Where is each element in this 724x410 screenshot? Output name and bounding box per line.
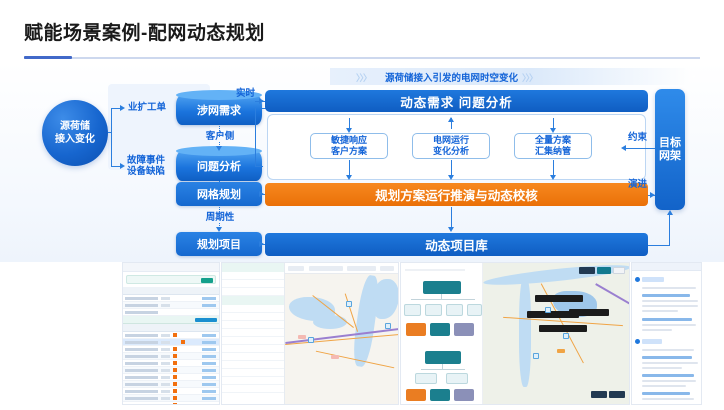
- connector-constraint-stub: [651, 148, 655, 149]
- connector-bottom-to-target-h: [648, 245, 670, 246]
- table-row: [123, 367, 219, 374]
- table-row: [123, 309, 219, 316]
- page-title: 赋能场景案例-配网动态规划: [24, 18, 265, 45]
- banner-chevrons-right: 〉〉〉: [522, 71, 537, 84]
- arrow-down-box3: [550, 128, 556, 133]
- arrow-project-to-bottom: [259, 241, 264, 247]
- source-circle-line1: 源荷储: [60, 120, 90, 133]
- arrow-down-customer: [216, 146, 222, 151]
- planning-table-screenshot[interactable]: [122, 262, 220, 405]
- table-row: [123, 295, 219, 302]
- grid-map-screenshot[interactable]: [221, 262, 399, 405]
- arrow-evolution-right: [650, 192, 655, 198]
- table-row: [123, 339, 219, 346]
- arrow-to-header-bar: [259, 98, 264, 104]
- box-grid-operation[interactable]: 电网运行 变化分析: [412, 133, 490, 159]
- arrow-orange-to-bottom: [448, 227, 454, 232]
- arrow-bottom-to-target: [667, 210, 673, 215]
- table-row: [123, 402, 219, 405]
- label-periodic: 周期性: [200, 212, 240, 223]
- arrow-down-periodic: [216, 227, 222, 232]
- thumb2-map-toolbar: [285, 263, 398, 274]
- thumb1-table-header-2: [123, 324, 219, 332]
- thumb3-tree-panel: [401, 263, 483, 404]
- arrow-to-fault-event: [120, 163, 125, 169]
- connector-problem-stub: [255, 166, 263, 167]
- thumb3-map-canvas: [483, 263, 629, 404]
- simulation-bar[interactable]: 规划方案运行推演与动态校核: [265, 183, 648, 206]
- thumb2-map-canvas: [285, 263, 398, 404]
- thumb1-topbar: [123, 263, 219, 272]
- thumb4-report: [632, 263, 701, 404]
- architecture-diagram: 源荷储 接入变化 业扩工单 故障事件 设备缺陷 涉网需求 问题分析 客户侧 电网…: [0, 62, 724, 262]
- analysis-report-screenshot[interactable]: [631, 262, 702, 405]
- table-row: [123, 360, 219, 367]
- connector-bottom-to-target-v: [669, 215, 670, 245]
- table-row: [123, 388, 219, 395]
- connector-below-box2: [451, 160, 452, 176]
- project-library-bar[interactable]: 动态项目库: [265, 233, 648, 256]
- label-fault-event-line1: 故障事件: [127, 155, 165, 166]
- thumb1-section-band: [123, 316, 219, 324]
- label-customer-side: 客户侧: [200, 131, 240, 142]
- slide-root: 赋能场景案例-配网动态规划 源荷储 接入变化 业扩工单 故障事件 设备缺陷 涉网…: [0, 0, 724, 410]
- label-realtime: 实时: [236, 88, 255, 99]
- topology-tree-map-screenshot[interactable]: [400, 262, 630, 405]
- box-grid-planning[interactable]: 网格规划: [176, 182, 262, 206]
- table-row: [123, 346, 219, 353]
- connector-below-box1: [349, 160, 350, 176]
- box-planning-project[interactable]: 规划项目: [176, 232, 262, 256]
- source-circle: 源荷储 接入变化: [42, 100, 108, 166]
- label-work-order: 业扩工单: [128, 102, 166, 113]
- title-accent-bar: [24, 56, 72, 59]
- connector-circle-to-bottom: [111, 166, 120, 167]
- dynamic-demand-bar[interactable]: 动态需求 问题分析: [265, 90, 648, 112]
- arrow-down-below1: [346, 175, 352, 180]
- table-row: [123, 395, 219, 402]
- arrow-gridplan-to-orange: [259, 191, 264, 197]
- source-circle-line2: 接入变化: [55, 133, 95, 146]
- connector-circle-to-top: [111, 108, 120, 109]
- table-row: [123, 353, 219, 360]
- banner-chevrons-left: 〉〉〉: [356, 71, 371, 84]
- connector-right-riser: [255, 108, 256, 166]
- label-constraint: 约束: [628, 132, 647, 143]
- thumb2-side-list: [222, 263, 285, 404]
- table-row: [123, 374, 219, 381]
- screenshot-strip: [0, 262, 724, 410]
- connector-orange-to-bottom: [451, 207, 452, 228]
- arrow-down-below2: [448, 175, 454, 180]
- arrow-up-box2: [448, 117, 454, 122]
- arrow-down-below3: [550, 175, 556, 180]
- box-full-scheme[interactable]: 全量方案 汇集纳管: [514, 133, 592, 159]
- thumb1-table-header: [123, 287, 219, 295]
- arrow-down-box1: [346, 128, 352, 133]
- table-row: [123, 332, 219, 339]
- connector-below-box3: [553, 160, 554, 176]
- box-agile-response[interactable]: 敏捷响应 客户方案: [310, 133, 388, 159]
- cylinder-problem-analysis[interactable]: 问题分析: [176, 151, 262, 181]
- thumb1-search-bar: [126, 275, 216, 284]
- arrow-to-work-order: [120, 105, 125, 111]
- connector-circle-trunk: [111, 108, 112, 166]
- connector-constraint: [626, 148, 651, 149]
- table-row: [123, 302, 219, 309]
- thumb4-report-header: [632, 263, 701, 271]
- banner-text: 源荷储接入引发的电网时空变化: [385, 70, 518, 84]
- cylinder-network-demand[interactable]: 涉网需求: [176, 95, 262, 125]
- target-grid-box[interactable]: 目标 网架: [655, 89, 685, 210]
- arrow-constraint-left: [621, 145, 626, 151]
- table-row: [123, 381, 219, 388]
- title-divider: [24, 57, 700, 59]
- connector-circle-stub: [108, 132, 112, 133]
- label-fault-event-line2: 设备缺陷: [127, 166, 165, 177]
- label-evolution: 演进: [628, 179, 647, 190]
